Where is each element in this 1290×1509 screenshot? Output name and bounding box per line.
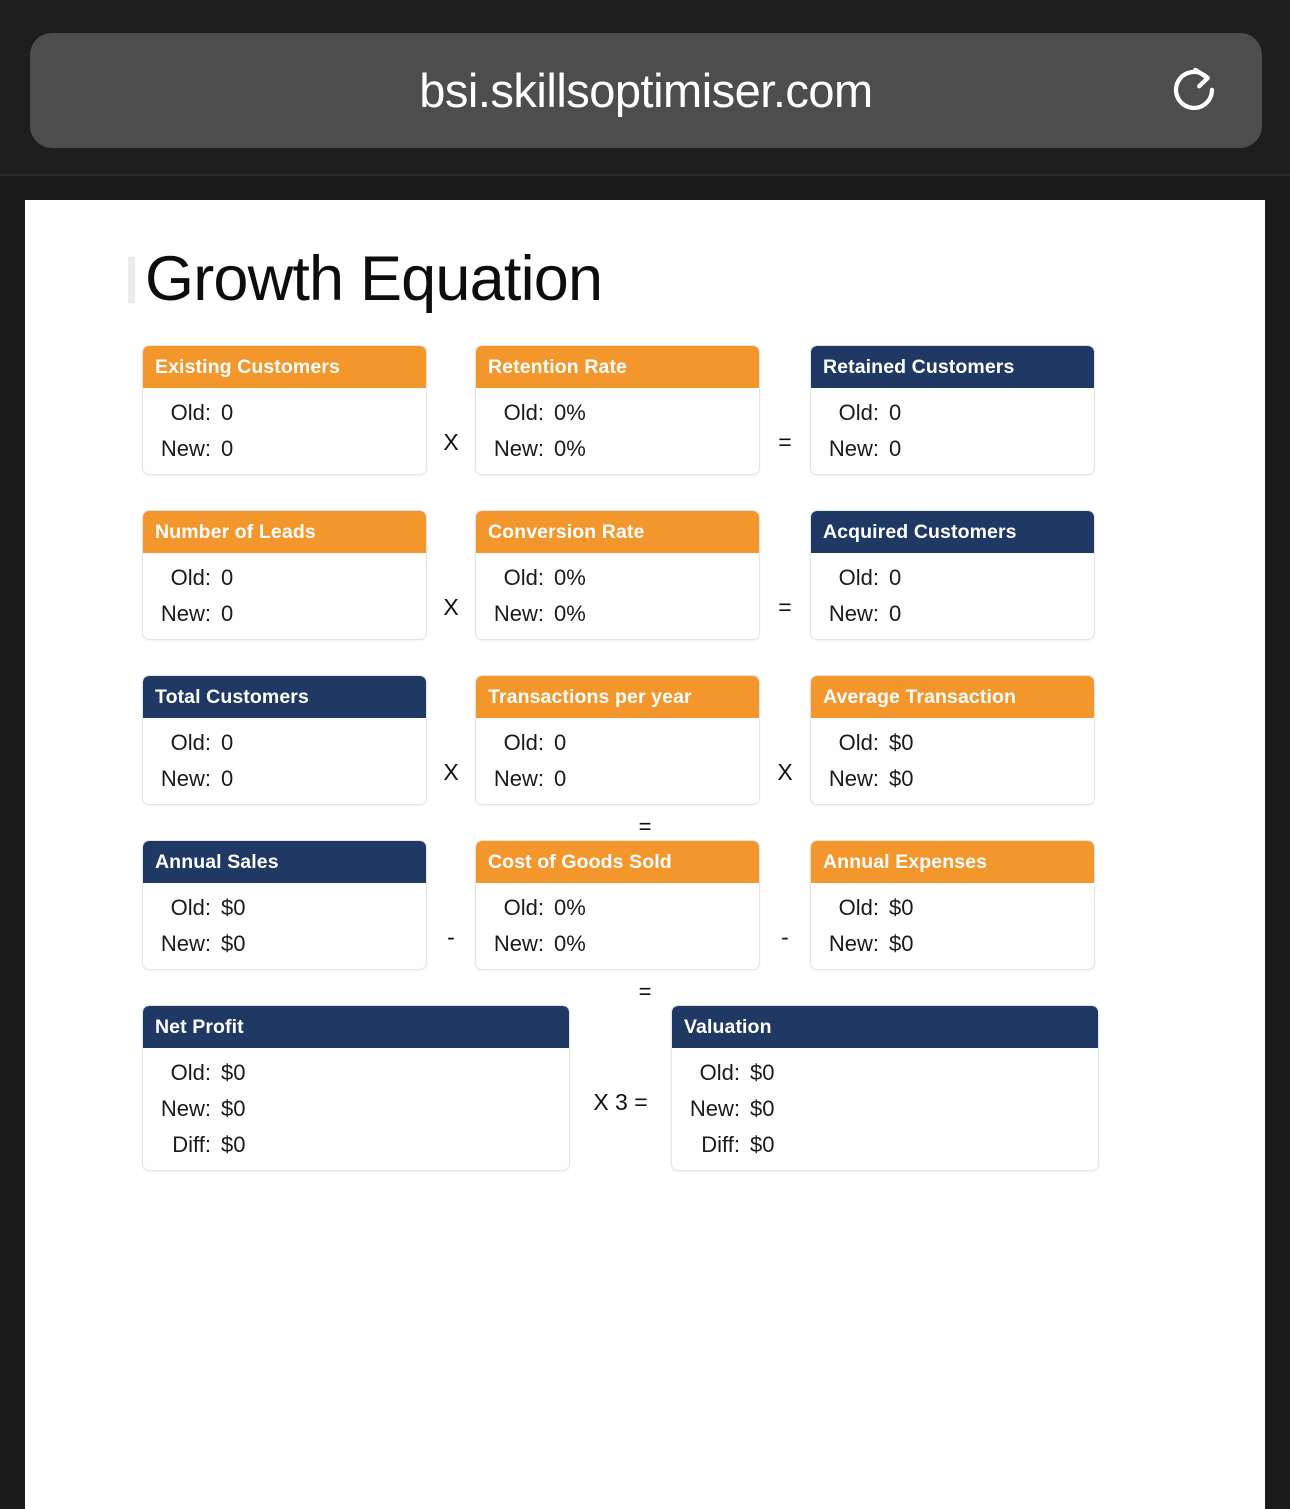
old-value: 0 <box>889 402 901 424</box>
old-value: $0 <box>221 897 245 919</box>
old-value-row: Old: 0% <box>476 402 759 424</box>
card-retention-rate[interactable]: Retention Rate Old: 0% New: 0% <box>475 345 760 475</box>
card-title: Net Profit <box>155 1016 244 1039</box>
new-label: New: <box>143 438 221 460</box>
growth-equation-grid: Existing Customers Old: 0 New: 0 X Reten <box>25 345 1265 1205</box>
old-value-row: Old: 0 <box>143 567 426 589</box>
diff-label: Diff: <box>143 1134 221 1156</box>
old-label: Old: <box>143 1062 221 1084</box>
card-header: Acquired Customers <box>811 511 1094 553</box>
card-body: Old: 0% New: 0% <box>476 883 759 969</box>
page-title: Growth Equation <box>128 248 602 311</box>
chrome-divider <box>0 174 1290 176</box>
old-value-row: Old: $0 <box>811 732 1094 754</box>
diff-value: $0 <box>750 1134 774 1156</box>
new-label: New: <box>811 768 889 790</box>
card-body: Old: 0 New: 0 <box>143 553 426 639</box>
card-body: Old: $0 New: $0 Diff: $0 <box>143 1048 569 1170</box>
new-value: $0 <box>750 1098 774 1120</box>
operator-minus: - <box>427 924 475 951</box>
page-title-text: Growth Equation <box>145 248 602 311</box>
web-page-viewport: Growth Equation Existing Customers Old: … <box>25 200 1265 1509</box>
old-label: Old: <box>476 732 554 754</box>
equation-row: Existing Customers Old: 0 New: 0 X Reten <box>25 345 1265 510</box>
card-body: Old: $0 New: $0 <box>143 883 426 969</box>
separator-equals: = <box>25 814 1265 840</box>
new-label: New: <box>811 438 889 460</box>
new-value-row: New: 0 <box>811 438 1094 460</box>
new-value-row: New: 0 <box>811 603 1094 625</box>
card-conversion-rate[interactable]: Conversion Rate Old: 0% New: 0% <box>475 510 760 640</box>
card-existing-customers[interactable]: Existing Customers Old: 0 New: 0 <box>142 345 427 475</box>
card-body: Old: 0% New: 0% <box>476 553 759 639</box>
operator-equals: = <box>760 429 810 456</box>
new-value-row: New: 0 <box>143 768 426 790</box>
card-title: Average Transaction <box>823 686 1016 709</box>
card-title: Retained Customers <box>823 356 1014 379</box>
new-value-row: New: $0 <box>672 1098 1098 1120</box>
new-label: New: <box>476 768 554 790</box>
diff-label: Diff: <box>672 1134 750 1156</box>
new-value-row: New: 0% <box>476 603 759 625</box>
card-header: Retained Customers <box>811 346 1094 388</box>
old-value: 0 <box>554 732 566 754</box>
address-bar[interactable]: bsi.skillsoptimiser.com <box>30 33 1262 148</box>
browser-chrome: bsi.skillsoptimiser.com <box>0 0 1290 175</box>
card-title: Conversion Rate <box>488 521 644 544</box>
old-label: Old: <box>143 732 221 754</box>
card-number-of-leads[interactable]: Number of Leads Old: 0 New: 0 <box>142 510 427 640</box>
card-title: Annual Expenses <box>823 851 987 874</box>
card-annual-sales[interactable]: Annual Sales Old: $0 New: $0 <box>142 840 427 970</box>
new-value-row: New: 0 <box>143 438 426 460</box>
reload-icon[interactable] <box>1164 61 1224 121</box>
card-header: Total Customers <box>143 676 426 718</box>
old-label: Old: <box>143 402 221 424</box>
new-value: 0 <box>221 603 233 625</box>
card-title: Total Customers <box>155 686 309 709</box>
card-transactions-per-year[interactable]: Transactions per year Old: 0 New: 0 <box>475 675 760 805</box>
new-label: New: <box>143 768 221 790</box>
card-body: Old: $0 New: $0 <box>811 883 1094 969</box>
card-header: Number of Leads <box>143 511 426 553</box>
old-value-row: Old: $0 <box>672 1062 1098 1084</box>
operator-multiply: X <box>760 759 810 786</box>
old-label: Old: <box>476 402 554 424</box>
card-header: Annual Expenses <box>811 841 1094 883</box>
card-title: Number of Leads <box>155 521 316 544</box>
diff-value-row: Diff: $0 <box>143 1134 569 1156</box>
equation-row: Number of Leads Old: 0 New: 0 X Conversi <box>25 510 1265 675</box>
old-value-row: Old: $0 <box>143 1062 569 1084</box>
old-value: 0 <box>221 732 233 754</box>
card-body: Old: $0 New: $0 Diff: $0 <box>672 1048 1098 1170</box>
old-value-row: Old: 0 <box>143 732 426 754</box>
new-value: 0 <box>221 438 233 460</box>
card-retained-customers[interactable]: Retained Customers Old: 0 New: 0 <box>810 345 1095 475</box>
url-text: bsi.skillsoptimiser.com <box>419 63 872 118</box>
old-value-row: Old: 0% <box>476 897 759 919</box>
card-cost-of-goods-sold[interactable]: Cost of Goods Sold Old: 0% New: 0% <box>475 840 760 970</box>
new-value: $0 <box>889 933 913 955</box>
card-header: Valuation <box>672 1006 1098 1048</box>
operator-times-three-equals: X 3 = <box>570 1089 671 1116</box>
old-label: Old: <box>811 402 889 424</box>
old-value-row: Old: 0 <box>143 402 426 424</box>
old-value: $0 <box>221 1062 245 1084</box>
old-value: 0 <box>889 567 901 589</box>
card-body: Old: 0 New: 0 <box>811 553 1094 639</box>
new-value: 0% <box>554 933 586 955</box>
operator-multiply: X <box>427 759 475 786</box>
card-total-customers[interactable]: Total Customers Old: 0 New: 0 <box>142 675 427 805</box>
old-value: 0 <box>221 567 233 589</box>
old-value-row: Old: $0 <box>811 897 1094 919</box>
new-value-row: New: 0 <box>143 603 426 625</box>
new-value-row: New: $0 <box>143 1098 569 1120</box>
new-value: $0 <box>221 1098 245 1120</box>
card-net-profit[interactable]: Net Profit Old: $0 New: $0 Diff: $0 <box>142 1005 570 1171</box>
card-header: Conversion Rate <box>476 511 759 553</box>
old-label: Old: <box>143 897 221 919</box>
card-body: Old: $0 New: $0 <box>811 718 1094 804</box>
old-value: 0% <box>554 897 586 919</box>
new-value: $0 <box>221 933 245 955</box>
card-header: Transactions per year <box>476 676 759 718</box>
old-label: Old: <box>143 567 221 589</box>
card-title: Annual Sales <box>155 851 279 874</box>
card-header: Retention Rate <box>476 346 759 388</box>
old-label: Old: <box>672 1062 750 1084</box>
old-value-row: Old: 0 <box>476 732 759 754</box>
title-accent-mark <box>128 257 135 303</box>
new-label: New: <box>811 603 889 625</box>
new-label: New: <box>143 1098 221 1120</box>
old-value: $0 <box>889 732 913 754</box>
new-value: $0 <box>889 768 913 790</box>
new-value: 0 <box>889 438 901 460</box>
operator-equals: = <box>760 594 810 621</box>
card-body: Old: 0 New: 0 <box>811 388 1094 474</box>
operator-multiply: X <box>427 594 475 621</box>
card-title: Transactions per year <box>488 686 692 709</box>
new-value: 0 <box>889 603 901 625</box>
card-body: Old: 0 New: 0 <box>476 718 759 804</box>
new-value-row: New: 0% <box>476 438 759 460</box>
new-value: 0% <box>554 603 586 625</box>
old-label: Old: <box>476 567 554 589</box>
old-label: Old: <box>811 897 889 919</box>
new-value-row: New: $0 <box>811 768 1094 790</box>
new-label: New: <box>476 933 554 955</box>
new-value-row: New: $0 <box>811 933 1094 955</box>
new-value-row: New: $0 <box>143 933 426 955</box>
old-value: 0 <box>221 402 233 424</box>
card-title: Cost of Goods Sold <box>488 851 672 874</box>
new-label: New: <box>143 933 221 955</box>
old-label: Old: <box>811 732 889 754</box>
operator-minus: - <box>760 924 810 951</box>
card-header: Net Profit <box>143 1006 569 1048</box>
card-valuation[interactable]: Valuation Old: $0 New: $0 Diff: $0 <box>671 1005 1099 1171</box>
card-annual-expenses[interactable]: Annual Expenses Old: $0 New: $0 <box>810 840 1095 970</box>
card-average-transaction[interactable]: Average Transaction Old: $0 New: $0 <box>810 675 1095 805</box>
old-value-row: Old: 0 <box>811 402 1094 424</box>
old-value: $0 <box>889 897 913 919</box>
card-title: Existing Customers <box>155 356 340 379</box>
card-header: Existing Customers <box>143 346 426 388</box>
card-title: Valuation <box>684 1016 772 1039</box>
separator-equals: = <box>25 979 1265 1005</box>
card-header: Cost of Goods Sold <box>476 841 759 883</box>
new-label: New: <box>811 933 889 955</box>
old-value-row: Old: $0 <box>143 897 426 919</box>
new-value: 0 <box>221 768 233 790</box>
new-value: 0% <box>554 438 586 460</box>
old-value-row: Old: 0% <box>476 567 759 589</box>
old-value: $0 <box>750 1062 774 1084</box>
new-label: New: <box>476 603 554 625</box>
new-label: New: <box>672 1098 750 1120</box>
old-value: 0% <box>554 402 586 424</box>
new-label: New: <box>143 603 221 625</box>
operator-multiply: X <box>427 429 475 456</box>
card-body: Old: 0 New: 0 <box>143 388 426 474</box>
new-value: 0 <box>554 768 566 790</box>
card-header: Annual Sales <box>143 841 426 883</box>
diff-value: $0 <box>221 1134 245 1156</box>
card-body: Old: 0 New: 0 <box>143 718 426 804</box>
card-header: Average Transaction <box>811 676 1094 718</box>
card-body: Old: 0% New: 0% <box>476 388 759 474</box>
old-label: Old: <box>811 567 889 589</box>
card-acquired-customers[interactable]: Acquired Customers Old: 0 New: 0 <box>810 510 1095 640</box>
card-title: Acquired Customers <box>823 521 1017 544</box>
old-label: Old: <box>476 897 554 919</box>
equation-row-final: Net Profit Old: $0 New: $0 Diff: $0 <box>25 1005 1265 1205</box>
old-value-row: Old: 0 <box>811 567 1094 589</box>
old-value: 0% <box>554 567 586 589</box>
card-title: Retention Rate <box>488 356 627 379</box>
new-value-row: New: 0% <box>476 933 759 955</box>
new-label: New: <box>476 438 554 460</box>
diff-value-row: Diff: $0 <box>672 1134 1098 1156</box>
new-value-row: New: 0 <box>476 768 759 790</box>
